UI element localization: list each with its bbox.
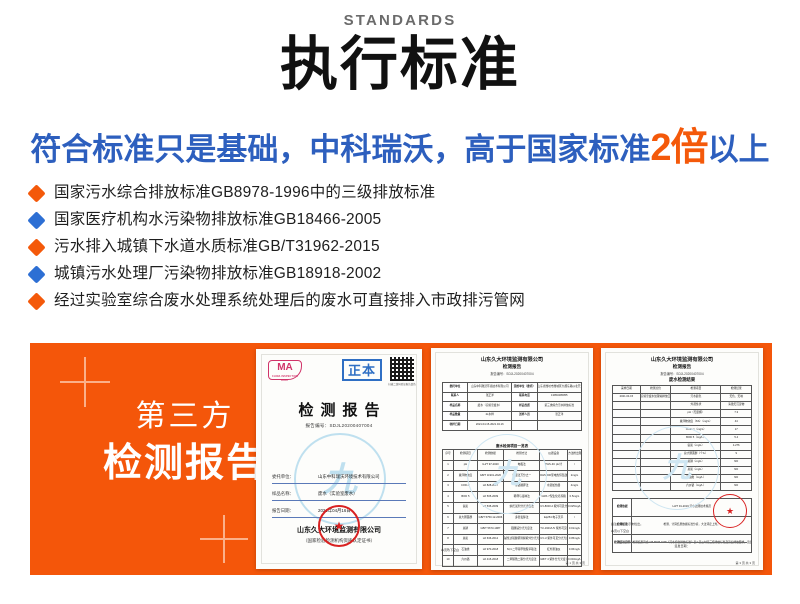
table-cell: GB/T 5750.12-2006 <box>477 513 503 524</box>
table-cell: 总磷 <box>454 524 478 535</box>
table-cell: 稀释与接种法 <box>504 492 540 503</box>
table-cell: ND <box>721 475 752 483</box>
table-cell <box>640 475 671 483</box>
table-cell <box>640 434 671 442</box>
table-cell: 4mg/L <box>568 481 582 492</box>
side-seal-text: 检验专用 <box>762 476 763 500</box>
table-cell <box>613 410 641 418</box>
table-cell: 检测点位 <box>640 386 671 394</box>
table-cell: 六价铬（mg/L） <box>671 483 721 491</box>
list-item-label: 国家医疗机构水污染物排放标准GB18466-2005 <box>54 207 381 233</box>
table-cell <box>613 418 641 426</box>
table-cell: 17 <box>721 426 752 434</box>
table-cell: 多管发酵法 <box>504 513 540 524</box>
table-row: 外观性状清澈无沉淀物 <box>613 402 752 410</box>
document-report-number: 报告编号：SDJL20200407004 <box>256 423 422 429</box>
page-title: 执行标准 <box>0 33 800 98</box>
table-cell: 氨氮（mg/L） <box>671 442 721 450</box>
table-cell: 纳氏试剂分光光度法 <box>504 502 540 513</box>
third-party-report-banner: 第三方 检测报告 MA CHINA INSPECTION BODY 正本 扫描二… <box>30 343 772 575</box>
table-cell: 样品性质 <box>512 402 537 412</box>
table-row: 2021.04.15实验室废水处理站排放口污水颜色无色、无味 <box>613 394 752 402</box>
table-cell: 10 <box>443 555 454 566</box>
list-item: 国家医疗机构水污染物排放标准GB18466-2005 <box>30 207 770 233</box>
document-company-name: 山东久大环境监测有限公司 <box>601 356 763 363</box>
document-info-table: 委托单位山东中科瑞沃环境技术有限公司受检单位（委托）山东省潍坊市潍城区大都东路以… <box>442 382 582 431</box>
table-cell: 检测项目 <box>671 386 721 394</box>
document-field: 委托单位： 山东中科瑞沃环境技术有限公司 <box>272 471 406 484</box>
table-cell: 0.5mg/L <box>568 492 582 503</box>
table-row: pH（无量纲）7.3 <box>613 410 752 418</box>
table-cell: 6 <box>443 513 454 524</box>
page-subtitle: 符合标准只是基础，中科瑞沃，高于国家标准2倍以上 <box>0 126 800 172</box>
table-cell: 检测项目 <box>454 450 478 461</box>
table-row: 总大肠菌群（个/L）9 <box>613 450 752 458</box>
table-cell: GB/T 11901-2020 <box>477 471 503 482</box>
table-cell: UV-U 紫外可见分光光度计 <box>540 534 568 545</box>
field-label: 委托单位： <box>272 471 294 483</box>
document-table-title: 废水检测结果 <box>601 377 763 383</box>
table-row: 9石油类HJ 970-2018N,N-二甲基甲酰胺萃取法红外测油仪0.06mg/… <box>443 545 582 556</box>
table-cell: PHS-3C pH计 <box>540 460 568 471</box>
table-cell: 碱性过硫酸钾消解紫外分光光度法 <box>504 534 540 545</box>
table-cell: pH <box>454 460 478 471</box>
table-cell: HJ 970-2018 <box>477 545 503 556</box>
table-cell: 总大肠菌群 <box>454 513 478 524</box>
subtitle-highlight: 2倍 <box>650 127 707 169</box>
table-cell: 六价铬 <box>454 555 478 566</box>
table-cell: / <box>568 460 582 471</box>
table-cell <box>613 442 641 450</box>
table-cell: pH（无量纲） <box>671 410 721 418</box>
table-row: 6总大肠菌群GB/T 5750.12-2006多管发酵法Eq254 电子天平/ <box>443 513 582 524</box>
field-value: 废水（实验室废水） <box>318 488 358 500</box>
document-thumbnail-test-report-detail[interactable]: 山东久大环境监测有限公司 检测报告 报告编号：SDJL20200407004 委… <box>431 348 593 570</box>
document-note: 本页以下空白 <box>441 548 459 552</box>
table-cell: ND <box>721 466 752 474</box>
diamond-bullet-icon <box>27 211 45 229</box>
table-cell: 氨氮 <box>454 502 478 513</box>
table-row: 委托单位山东中科瑞沃环境技术有限公司受检单位（委托）山东省潍坊市潍城区大都东路以… <box>443 383 582 393</box>
table-row: 总氮（mg/L）ND <box>613 466 752 474</box>
table-row: 5氨氮HJ 535-2009纳氏试剂分光光度法UV-8000 A 紫外可见分光光… <box>443 502 582 513</box>
table-cell: 钼酸铵分光光度法 <box>504 524 540 535</box>
list-item: 城镇污水处理厂污染物排放标准GB18918-2002 <box>30 261 770 287</box>
table-row: 石油类（mg/L）ND <box>613 475 752 483</box>
table-cell: HJ 535-2009 <box>477 502 503 513</box>
table-cell <box>640 458 671 466</box>
table-cell: 检测结果 <box>721 386 752 394</box>
table-cell: 方法检出限 <box>568 450 582 461</box>
list-item: 国家污水综合排放标准GB8978-1996中的三级排放标准 <box>30 180 770 206</box>
table-cell: TU-1901/UV 紫外可见分光光度计 <box>540 524 568 535</box>
table-cell: 水浴加热器 <box>540 481 568 492</box>
table-cell: 总磷（mg/L） <box>671 458 721 466</box>
table-cell <box>640 426 671 434</box>
diamond-bullet-icon <box>27 238 45 256</box>
table-cell: 送样人员 <box>512 411 537 421</box>
standards-list: 国家污水综合排放标准GB8978-1996中的三级排放标准 国家医疗机构水污染物… <box>30 180 770 315</box>
document-footer: 第 1 页 共 3 页 <box>565 561 585 565</box>
list-item: 污水排入城镇下水道水质标准GB/T31962-2015 <box>30 234 770 260</box>
banner-line-2: 检测报告 <box>90 440 280 489</box>
table-row: 六价铬（mg/L）ND <box>613 483 752 491</box>
table-cell <box>613 402 641 410</box>
subtitle-suffix: 以上 <box>708 132 770 167</box>
table-cell <box>613 426 641 434</box>
table-row: 7总磷GB/T 5673-1987钼酸铵分光光度法TU-1901/UV 紫外可见… <box>443 524 582 535</box>
table-cell <box>640 410 671 418</box>
table-cell: 清澈无沉淀物 <box>721 402 752 410</box>
list-item-label: 城镇污水处理厂污染物排放标准GB18918-2002 <box>54 261 381 287</box>
table-cell: BOD 5 <box>454 492 478 503</box>
table-cell: 山东中科瑞沃环境技术有限公司 <box>468 383 512 393</box>
table-cell: 0.025mg/L <box>568 502 582 513</box>
table-cell: 山东省潍坊市潍城区大都东路以北开元大街以西中科瑞沃实验室 <box>537 383 582 393</box>
table-cell: 7 <box>443 524 454 535</box>
table-cell: 4.276 <box>721 442 752 450</box>
document-title: 检测报告 <box>256 399 422 420</box>
table-cell: 张正洋 <box>537 411 582 421</box>
document-note-bottom: 备注：ND 表示未检出。 <box>611 522 643 526</box>
table-cell: 7.3 <box>721 410 752 418</box>
diamond-bullet-icon <box>27 184 45 202</box>
table-row: 8总氮HJ 636-2012碱性过硫酸钾消解紫外分光光度法UV-U 紫外可见分光… <box>443 534 582 545</box>
table-cell: 2L水样 <box>468 411 512 421</box>
table-cell: 0.05mg/L <box>568 534 582 545</box>
table-row: 联系人张正洋联系电话13953495055 <box>443 392 582 402</box>
document-field: 样品名称： 废水（实验室废水） <box>272 488 406 501</box>
table-cell: 实验室废水处理站排放口 <box>640 394 671 402</box>
table-row: 4BOD 5HJ 505-2009稀释与接种法GRX-7型生化培养箱0.5mg/… <box>443 492 582 503</box>
table-cell: 0.06mg/L <box>568 545 582 556</box>
original-stamp: 正本 <box>342 359 382 381</box>
table-cell: 8 <box>443 534 454 545</box>
document-title: 检测报告 <box>431 364 593 370</box>
table-cell: 红外测油仪 <box>540 545 568 556</box>
red-seal-stamp-icon <box>713 494 747 528</box>
page-eyebrow: STANDARDS <box>0 12 800 29</box>
table-cell: COD cr <box>454 481 478 492</box>
table-cell: N,N-二甲基甲酰胺萃取法 <box>504 545 540 556</box>
document-company-name: 山东久大环境监测有限公司 <box>431 356 593 363</box>
table-row: 采样日期检测点位检测项目检测结果 <box>613 386 752 394</box>
table-cell: 电极法 <box>504 460 540 471</box>
field-label: 报告日期： <box>272 505 294 517</box>
table-cell: 样品名称 <box>443 402 468 412</box>
table-cell <box>613 450 641 458</box>
table-cell: 污水颜色 <box>671 394 721 402</box>
table-cell <box>640 466 671 474</box>
table-cell: 检测依据 <box>613 499 632 517</box>
table-row: 悬浮物浓度（SS）（mg/L）44 <box>613 418 752 426</box>
table-cell: 二苯碳酰二肼分光光度法 <box>504 555 540 566</box>
table-cell: HJ 415-2018 <box>477 555 503 566</box>
table-cell <box>613 483 641 491</box>
table-cell: 1 <box>443 460 454 471</box>
table-cell: 5 <box>443 502 454 513</box>
document-footer: 第 3 页 共 3 页 <box>735 561 755 565</box>
table-cell: 第三类综合污水排放标准 <box>537 402 582 412</box>
table-cell <box>640 418 671 426</box>
table-cell: HJ 828-2017 <box>477 481 503 492</box>
table-cell: 重铬酸钾法 <box>504 481 540 492</box>
field-label: 样品名称： <box>272 488 294 500</box>
table-cell: GB/T 4 紫外分光光度计 <box>540 555 568 566</box>
table-cell: 9 <box>721 450 752 458</box>
table-cell: 联系人 <box>443 392 468 402</box>
banner-caption: 第三方 检测报告 <box>90 398 280 488</box>
table-cell: UV-8000 A 紫外可见分光光度计 <box>540 502 568 513</box>
table-cell: 总氮 <box>454 534 478 545</box>
diamond-bullet-icon <box>27 265 45 283</box>
table-cell: ND <box>721 483 752 491</box>
table-row: 氨氮（mg/L）4.276 <box>613 442 752 450</box>
cma-mark-icon: MA CHINA INSPECTION BODY <box>268 360 302 380</box>
table-cell: GRX-7型生化培养箱 <box>540 492 568 503</box>
table-cell: 44 <box>721 418 752 426</box>
table-cell: 委托单位 <box>443 383 468 393</box>
document-note-blank: 本页以下空白 <box>611 529 629 533</box>
plus-decoration-icon <box>200 515 248 563</box>
table-cell: 无色、无味 <box>721 394 752 402</box>
table-cell: 4 <box>443 492 454 503</box>
banner-line-1: 第三方 <box>90 398 280 436</box>
subtitle-prefix: 符合标准只是基础，中科瑞沃，高于国家标准 <box>30 132 650 167</box>
table-cell <box>613 434 641 442</box>
document-title: 检测报告 <box>601 364 763 370</box>
table-cell: 采样日期 <box>613 386 641 394</box>
table-cell: 序号 <box>443 450 454 461</box>
table-cell <box>640 402 671 410</box>
table-row: 收样日期2021.04.15-2021.04.16 <box>443 421 582 431</box>
document-thumbnail-inspection-certificate[interactable]: MA CHINA INSPECTION BODY 正本 扫描二维码验证报告真伪 … <box>256 349 422 569</box>
table-cell: HJ 636-2012 <box>477 534 503 545</box>
table-cell: 2mg/L <box>568 471 582 482</box>
table-cell: 5.4 <box>721 434 752 442</box>
table-cell: 总氮（mg/L） <box>671 466 721 474</box>
table-cell: 悬浮物浓度 <box>454 471 478 482</box>
document-report-number: 报告编号：SDJL20200407004 <box>431 371 593 376</box>
document-signature-line: 签发日期： <box>617 542 747 548</box>
table-cell: 2021.04.15-2021.04.16 <box>468 421 512 431</box>
table-cell <box>512 421 537 431</box>
standards-page: STANDARDS 执行标准 符合标准只是基础，中科瑞沃，高于国家标准2倍以上 … <box>0 0 800 604</box>
table-cell: GJ/T 97-2020 <box>477 460 503 471</box>
table-cell <box>613 466 641 474</box>
table-row: 样品名称废水（实验室废水）样品性质第三类综合污水排放标准 <box>443 402 582 412</box>
table-cell: GB/T 5673-1987 <box>477 524 503 535</box>
table-cell: 13953495055 <box>537 392 582 402</box>
qr-caption: 扫描二维码验证报告真伪 <box>388 383 416 386</box>
document-thumbnail-waste-water-result[interactable]: 山东久大环境监测有限公司 检测报告 报告编号：SDJL20200407004 废… <box>601 348 763 570</box>
table-cell <box>537 421 582 431</box>
table-row: 样品数量2L水样送样人员张正洋 <box>443 411 582 421</box>
table-cell: / <box>568 513 582 524</box>
list-item: 经过实验室综合废水处理系统处理后的废水可直接排入市政排污管网 <box>30 288 770 314</box>
table-cell: 石油类（mg/L） <box>671 475 721 483</box>
table-cell: DH5-600型电热恒温鼓风干燥箱 <box>540 471 568 482</box>
table-cell: 张正洋 <box>468 392 512 402</box>
table-cell <box>613 458 641 466</box>
table-cell <box>640 442 671 450</box>
table-cell: 检测依据 <box>477 450 503 461</box>
table-cell: HJ 505-2009 <box>477 492 503 503</box>
document-results-table: 采样日期检测点位检测项目检测结果2021.04.15实验室废水处理站排放口污水颜… <box>612 385 752 491</box>
table-cell: 受检单位（委托） <box>512 383 537 393</box>
field-value: 山东中科瑞沃环境技术有限公司 <box>318 471 379 483</box>
table-cell: 3 <box>443 481 454 492</box>
table-cell <box>640 483 671 491</box>
table-cell <box>640 450 671 458</box>
diamond-bullet-icon <box>27 292 45 310</box>
table-cell: 废水（实验室废水） <box>468 402 512 412</box>
table-row: 2悬浮物浓度GB/T 11901-2020重量法万分之一DH5-600型电热恒温… <box>443 471 582 482</box>
table-cell: 外观性状 <box>671 402 721 410</box>
table-cell: 2 <box>443 471 454 482</box>
table-cell: COD cr（mg/L） <box>671 426 721 434</box>
table-cell <box>613 475 641 483</box>
table-cell: 重量法万分之一 <box>504 471 540 482</box>
table-cell: 联系电话 <box>512 392 537 402</box>
table-cell: 0.01mg/L <box>568 524 582 535</box>
table-cell: 总大肠菌群（个/L） <box>671 450 721 458</box>
table-row: 总磷（mg/L）ND <box>613 458 752 466</box>
table-cell: 2021.04.15 <box>613 394 641 402</box>
table-cell: 检测方法 <box>504 450 540 461</box>
table-row: 10六价铬HJ 415-2018二苯碳酰二肼分光光度法GB/T 4 紫外分光光度… <box>443 555 582 566</box>
qr-code-icon <box>390 357 414 381</box>
table-cell: 悬浮物浓度（SS）（mg/L） <box>671 418 721 426</box>
table-row: 序号检测项目检测依据检测方法仪器设备方法检出限 <box>443 450 582 461</box>
table-row: 3COD crHJ 828-2017重铬酸钾法水浴加热器4mg/L <box>443 481 582 492</box>
table-cell: 样品数量 <box>443 411 468 421</box>
cma-mark-label: MA <box>277 362 293 373</box>
table-row: BOD 5（mg/L）5.4 <box>613 434 752 442</box>
table-row: COD cr（mg/L）17 <box>613 426 752 434</box>
list-item-label: 国家污水综合排放标准GB8978-1996中的三级排放标准 <box>54 180 435 206</box>
list-item-label: 污水排入城镇下水道水质标准GB/T31962-2015 <box>54 234 380 260</box>
table-cell: 仪器设备 <box>540 450 568 461</box>
table-cell: BOD 5（mg/L） <box>671 434 721 442</box>
table-cell: ND <box>721 458 752 466</box>
table-cell: 收样日期 <box>443 421 468 431</box>
list-item-label: 经过实验室综合废水处理系统处理后的废水可直接排入市政排污管网 <box>54 288 525 314</box>
document-report-number: 报告编号：SDJL20200407004 <box>601 371 763 376</box>
table-cell: Eq254 电子天平 <box>540 513 568 524</box>
red-seal-stamp-icon <box>318 505 360 547</box>
table-row: 1pHGJ/T 97-2020电极法PHS-3C pH计/ <box>443 460 582 471</box>
document-results-table: 序号检测项目检测依据检测方法仪器设备方法检出限1pHGJ/T 97-2020电极… <box>442 449 582 567</box>
cma-mark-sub: CHINA INSPECTION BODY <box>269 375 301 383</box>
